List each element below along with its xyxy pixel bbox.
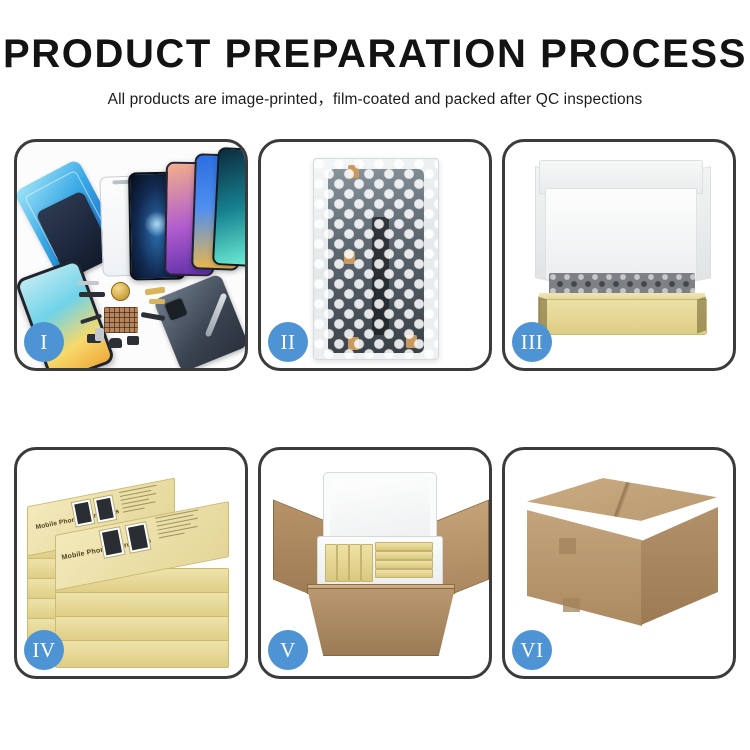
step-badge-4: IV (24, 630, 64, 670)
process-step-grid: I II (14, 139, 736, 689)
connector-icon (127, 336, 139, 345)
copper-chip-grid-icon (104, 307, 138, 333)
camera-module-icon (95, 328, 104, 341)
step-badge-5: V (268, 630, 308, 670)
wrapped-screen-icon (328, 169, 424, 353)
yellow-box-front-icon (539, 299, 707, 335)
carton-body-icon (307, 588, 455, 656)
process-step-3: III (502, 139, 736, 371)
box-corner-icon (697, 297, 706, 334)
product-preparation-infographic: PRODUCT PREPARATION PROCESS All products… (0, 0, 750, 750)
gold-connector-icon (145, 287, 166, 296)
teal-display-phone-icon (212, 147, 245, 267)
carton-side-face-icon (641, 507, 718, 625)
page-subtitle: All products are image-printed，film-coat… (0, 87, 750, 109)
metal-bracket-icon (77, 281, 99, 285)
step-badge-3: III (512, 322, 552, 362)
bubble-wrap-bag-icon (313, 158, 439, 360)
process-step-6: VI (502, 447, 736, 679)
page-title: PRODUCT PREPARATION PROCESS (0, 34, 750, 74)
step-badge-2: II (268, 322, 308, 362)
step-badge-1: I (24, 322, 64, 362)
rear-housing-icon (153, 273, 245, 368)
process-step-2: II (258, 139, 492, 371)
gold-connector-icon (149, 299, 165, 304)
stacked-box-side (55, 616, 229, 642)
stacked-box-side (55, 592, 229, 618)
process-step-1: I (14, 139, 248, 371)
tape-tab-icon (348, 165, 359, 178)
header: PRODUCT PREPARATION PROCESS All products… (0, 0, 750, 109)
process-step-5: V (258, 447, 492, 679)
connector-icon (109, 338, 122, 348)
stacked-box-side (55, 640, 229, 668)
carton-tape-icon (563, 598, 580, 612)
tape-tab-icon (406, 335, 417, 348)
step-badge-6: VI (512, 630, 552, 670)
tape-tab-icon (344, 251, 355, 264)
screen-flex-strip-icon (372, 217, 389, 335)
carton-tape-icon (559, 538, 576, 554)
process-step-4: Mobile Phone Spare Parts Mobile Phone Sp… (14, 447, 248, 679)
flex-cable-icon (79, 292, 105, 297)
yellow-boxes-inside-icon (325, 542, 433, 582)
carton-front-face-icon (527, 510, 642, 626)
gold-speaker-icon (111, 282, 130, 301)
white-foam-lid-icon (545, 188, 697, 280)
tape-tab-icon (348, 337, 359, 350)
